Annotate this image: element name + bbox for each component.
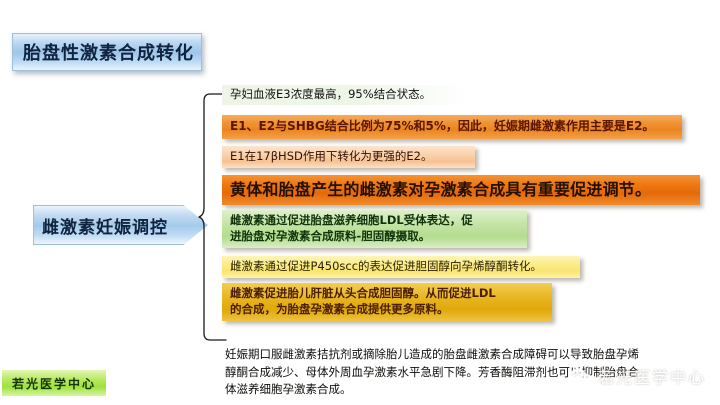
list-item: 雌激素通过促进胎盘滋养细胞LDL受体表达，促 进胎盘对孕激素合成原料-胆固醇摄取… bbox=[222, 210, 527, 248]
list-item: E1、E2与SHBG结合比例为75%和5%，因此，妊娠期雌激素作用主要是E2。 bbox=[222, 115, 682, 139]
placental-hormone-synthesis-title-label: 胎盘性激素合成转化 bbox=[23, 39, 194, 65]
list-item-highlight: 黄体和胎盘产生的雌激素对孕激素合成具有重要促进调节。 bbox=[222, 175, 700, 205]
list-item: 雌激素通过促进P450scc的表达促进胆固醇向孕烯醇酮转化。 bbox=[222, 256, 580, 278]
row-text: E1在17βHSD作用下转化为更强的E2。 bbox=[230, 149, 432, 165]
slide-canvas: 胎盘性激素合成转化 雌激素妊娠调控 孕妇血液E3浓度最高，95%结合状态。 E1… bbox=[0, 0, 720, 405]
placental-hormone-synthesis-title: 胎盘性激素合成转化 bbox=[12, 33, 202, 71]
row-text: 雌激素促进胎儿肝脏从头合成胆固醇。从而促进LDL 的合成，为胎盘孕激素合成提供更… bbox=[230, 286, 496, 317]
row-text: 黄体和胎盘产生的雌激素对孕激素合成具有重要促进调节。 bbox=[230, 179, 651, 201]
estrogen-pregnancy-regulation-title: 雌激素妊娠调控 bbox=[33, 205, 208, 245]
wechat-watermark-label: 若光医学中心 bbox=[598, 364, 706, 388]
wechat-icon bbox=[570, 367, 592, 386]
row-text: 雌激素通过促进P450scc的表达促进胆固醇向孕烯醇酮转化。 bbox=[230, 259, 542, 275]
clinic-logo-badge: 若光医学中心 bbox=[2, 370, 106, 396]
row-text: 雌激素通过促进胎盘滋养细胞LDL受体表达，促 进胎盘对孕激素合成原料-胆固醇摄取… bbox=[230, 213, 473, 244]
estrogen-pregnancy-regulation-title-label: 雌激素妊娠调控 bbox=[42, 213, 168, 238]
wechat-watermark: 若光医学中心 bbox=[570, 363, 706, 389]
list-item: 孕妇血液E3浓度最高，95%结合状态。 bbox=[222, 85, 467, 105]
list-item: 雌激素促进胎儿肝脏从头合成胆固醇。从而促进LDL 的合成，为胎盘孕激素合成提供更… bbox=[222, 283, 552, 321]
clinic-logo-label: 若光医学中心 bbox=[12, 375, 96, 392]
row-text: 孕妇血液E3浓度最高，95%结合状态。 bbox=[230, 87, 431, 103]
row-text: E1、E2与SHBG结合比例为75%和5%，因此，妊娠期雌激素作用主要是E2。 bbox=[230, 118, 654, 134]
list-item: E1在17βHSD作用下转化为更强的E2。 bbox=[222, 146, 475, 168]
